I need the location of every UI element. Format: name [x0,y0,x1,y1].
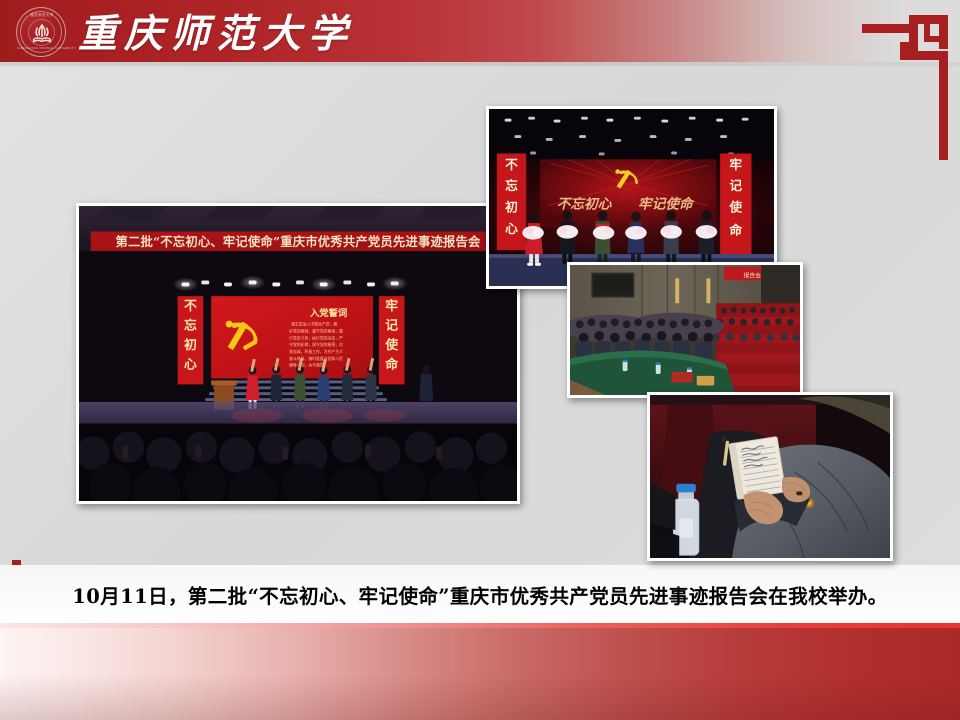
header-underline [0,62,960,66]
svg-text:不: 不 [505,157,518,172]
svg-text:奋斗终身，随时准备为党和人民: 奋斗终身，随时准备为党和人民 [289,356,343,361]
photo-stage-wide: 第二批“不忘初心、牢记使命”重庆市优秀共产党员先进事迹报告会 [76,203,520,504]
photo-award-ceremony-image: 不 忘 初 心 牢 记 使 命 [489,109,774,286]
svg-text:牢: 牢 [385,298,398,314]
university-seal-logo: 重庆师范大学 CHONGQING NORMAL UNIVERSITY [16,7,66,57]
svg-text:护党的纲领，遵守党的章程，履: 护党的纲领，遵守党的章程，履 [289,328,343,333]
footer-accent-line [0,623,960,628]
svg-text:初: 初 [505,200,518,215]
svg-text:党忠诚，积极工作，为共产主义: 党忠诚，积极工作，为共产主义 [289,349,343,354]
svg-text:使: 使 [728,200,742,215]
svg-text:记: 记 [385,319,398,334]
svg-text:牢记使命: 牢记使命 [638,197,695,213]
svg-text:初: 初 [184,337,197,353]
chinese-meander-ornament-top-right [862,8,948,160]
svg-text:行党员义务，执行党的决定，严: 行党员义务，执行党的决定，严 [289,335,343,340]
svg-text:守党的纪律，保守党的秘密，对: 守党的纪律，保守党的秘密，对 [289,342,343,347]
photo-audience-hall: 报告会 [567,262,803,398]
svg-text:牢: 牢 [729,157,742,172]
page-title: 重庆师范大学 [78,4,354,58]
caption-bar: 10月11日，第二批“不忘初心、牢记使命”重庆市优秀共产党员先进事迹报告会在我校… [0,565,960,623]
svg-text:我志愿加入中国共产党，拥: 我志愿加入中国共产党，拥 [291,322,337,327]
svg-text:牺牲一切，永不叛党。: 牺牲一切，永不叛党。 [289,363,327,368]
svg-text:使: 使 [384,337,398,353]
svg-text:不: 不 [184,299,197,314]
presentation-slide: 重庆师范大学 CHONGQING NORMAL UNIVERSITY 重庆师范大… [0,0,960,720]
photo-audience-hall-image: 报告会 [570,265,800,395]
seal-emblem-icon [17,8,67,58]
svg-text:命: 命 [384,357,398,373]
svg-text:忘: 忘 [184,318,197,334]
svg-text:报告会: 报告会 [743,271,761,279]
photo-attendee-taking-notes [647,392,893,561]
photo-stage-wide-image: 第二批“不忘初心、牢记使命”重庆市优秀共产党员先进事迹报告会 [79,206,517,501]
svg-text:入党誓词: 入党誓词 [309,307,347,319]
caption-text: 10月11日，第二批“不忘初心、牢记使命”重庆市优秀共产党员先进事迹报告会在我校… [72,580,887,609]
photo-attendee-taking-notes-image [650,395,890,558]
svg-text:命: 命 [728,223,742,238]
svg-text:不忘初心: 不忘初心 [557,197,612,213]
svg-text:记: 记 [729,178,742,193]
footer-banner [0,628,960,720]
svg-text:第二批“不忘初心、牢记使命”重庆市优秀共产党员先进事迹报告会: 第二批“不忘初心、牢记使命”重庆市优秀共产党员先进事迹报告会 [115,234,481,249]
svg-text:心: 心 [184,358,197,373]
svg-text:心: 心 [505,221,518,236]
svg-text:忘: 忘 [505,178,518,193]
